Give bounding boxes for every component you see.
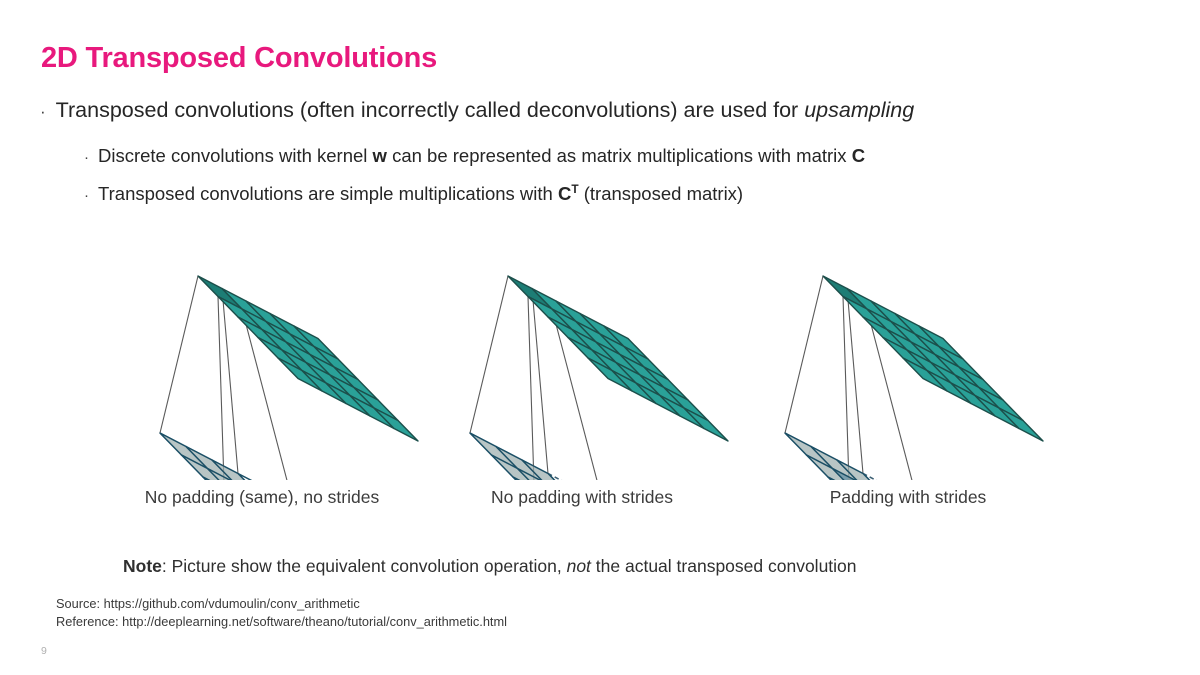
output-feature-map [508,276,728,441]
bullet-main-text: Transposed convolutions (often incorrect… [56,98,915,123]
bullet-sub-2-transpose-superscript: T [571,182,578,196]
bullet-main: · Transposed convolutions (often incorre… [40,98,914,123]
bullet-main-emphasis: upsampling [804,98,914,122]
bullet-main-text-plain: Transposed convolutions (often incorrect… [56,98,805,122]
bullet-marker: · [40,103,46,120]
note-part2: the actual transposed convolution [591,556,857,576]
note-label: Note [123,556,162,576]
bullet-sub-1: · Discrete convolutions with kernel w ca… [84,145,865,167]
bullet-sub-2: · Transposed convolutions are simple mul… [84,183,743,205]
bullet-sub-1-part1: Discrete convolutions with kernel [98,145,373,166]
isometric-diagram [765,248,1065,480]
bullet-sub-1-marker: · [84,150,89,165]
bullet-sub-2-part2: (transposed matrix) [579,183,744,204]
bullet-sub-1-kernel-symbol: w [373,145,387,166]
bullet-sub-1-part2: can be represented as matrix multiplicat… [387,145,852,166]
page-title: 2D Transposed Convolutions [41,42,437,75]
figure-caption-0: No padding (same), no strides [102,487,422,508]
figure-caption-2: Padding with strides [748,487,1068,508]
bullet-sub-1-matrix-symbol: C [852,145,865,166]
note-part1: : Picture show the equivalent convolutio… [162,556,567,576]
figure-padding-with-strides [765,248,1065,478]
bullet-sub-2-text: Transposed convolutions are simple multi… [98,183,743,205]
figure-no-padding-no-strides [140,248,440,478]
isometric-diagram [140,248,440,480]
slide-canvas: 2D Transposed Convolutions · Transposed … [0,0,1200,675]
reference-line: Reference: http://deeplearning.net/softw… [56,613,507,631]
bullet-sub-2-matrix-symbol: C [558,183,571,204]
source-line: Source: https://github.com/vdumoulin/con… [56,595,507,613]
figure-no-padding-with-strides [450,248,750,478]
figure-caption-1: No padding with strides [422,487,742,508]
bullet-sub-1-text: Discrete convolutions with kernel w can … [98,145,865,167]
page-number: 9 [41,645,47,657]
output-feature-map [198,276,418,441]
bullet-sub-2-part1: Transposed convolutions are simple multi… [98,183,558,204]
isometric-diagram [450,248,750,480]
source-references: Source: https://github.com/vdumoulin/con… [56,595,507,631]
output-feature-map [823,276,1043,441]
note-emphasis: not [567,556,591,576]
note-text: Note: Picture show the equivalent convol… [123,556,857,577]
bullet-sub-2-marker: · [84,188,89,203]
